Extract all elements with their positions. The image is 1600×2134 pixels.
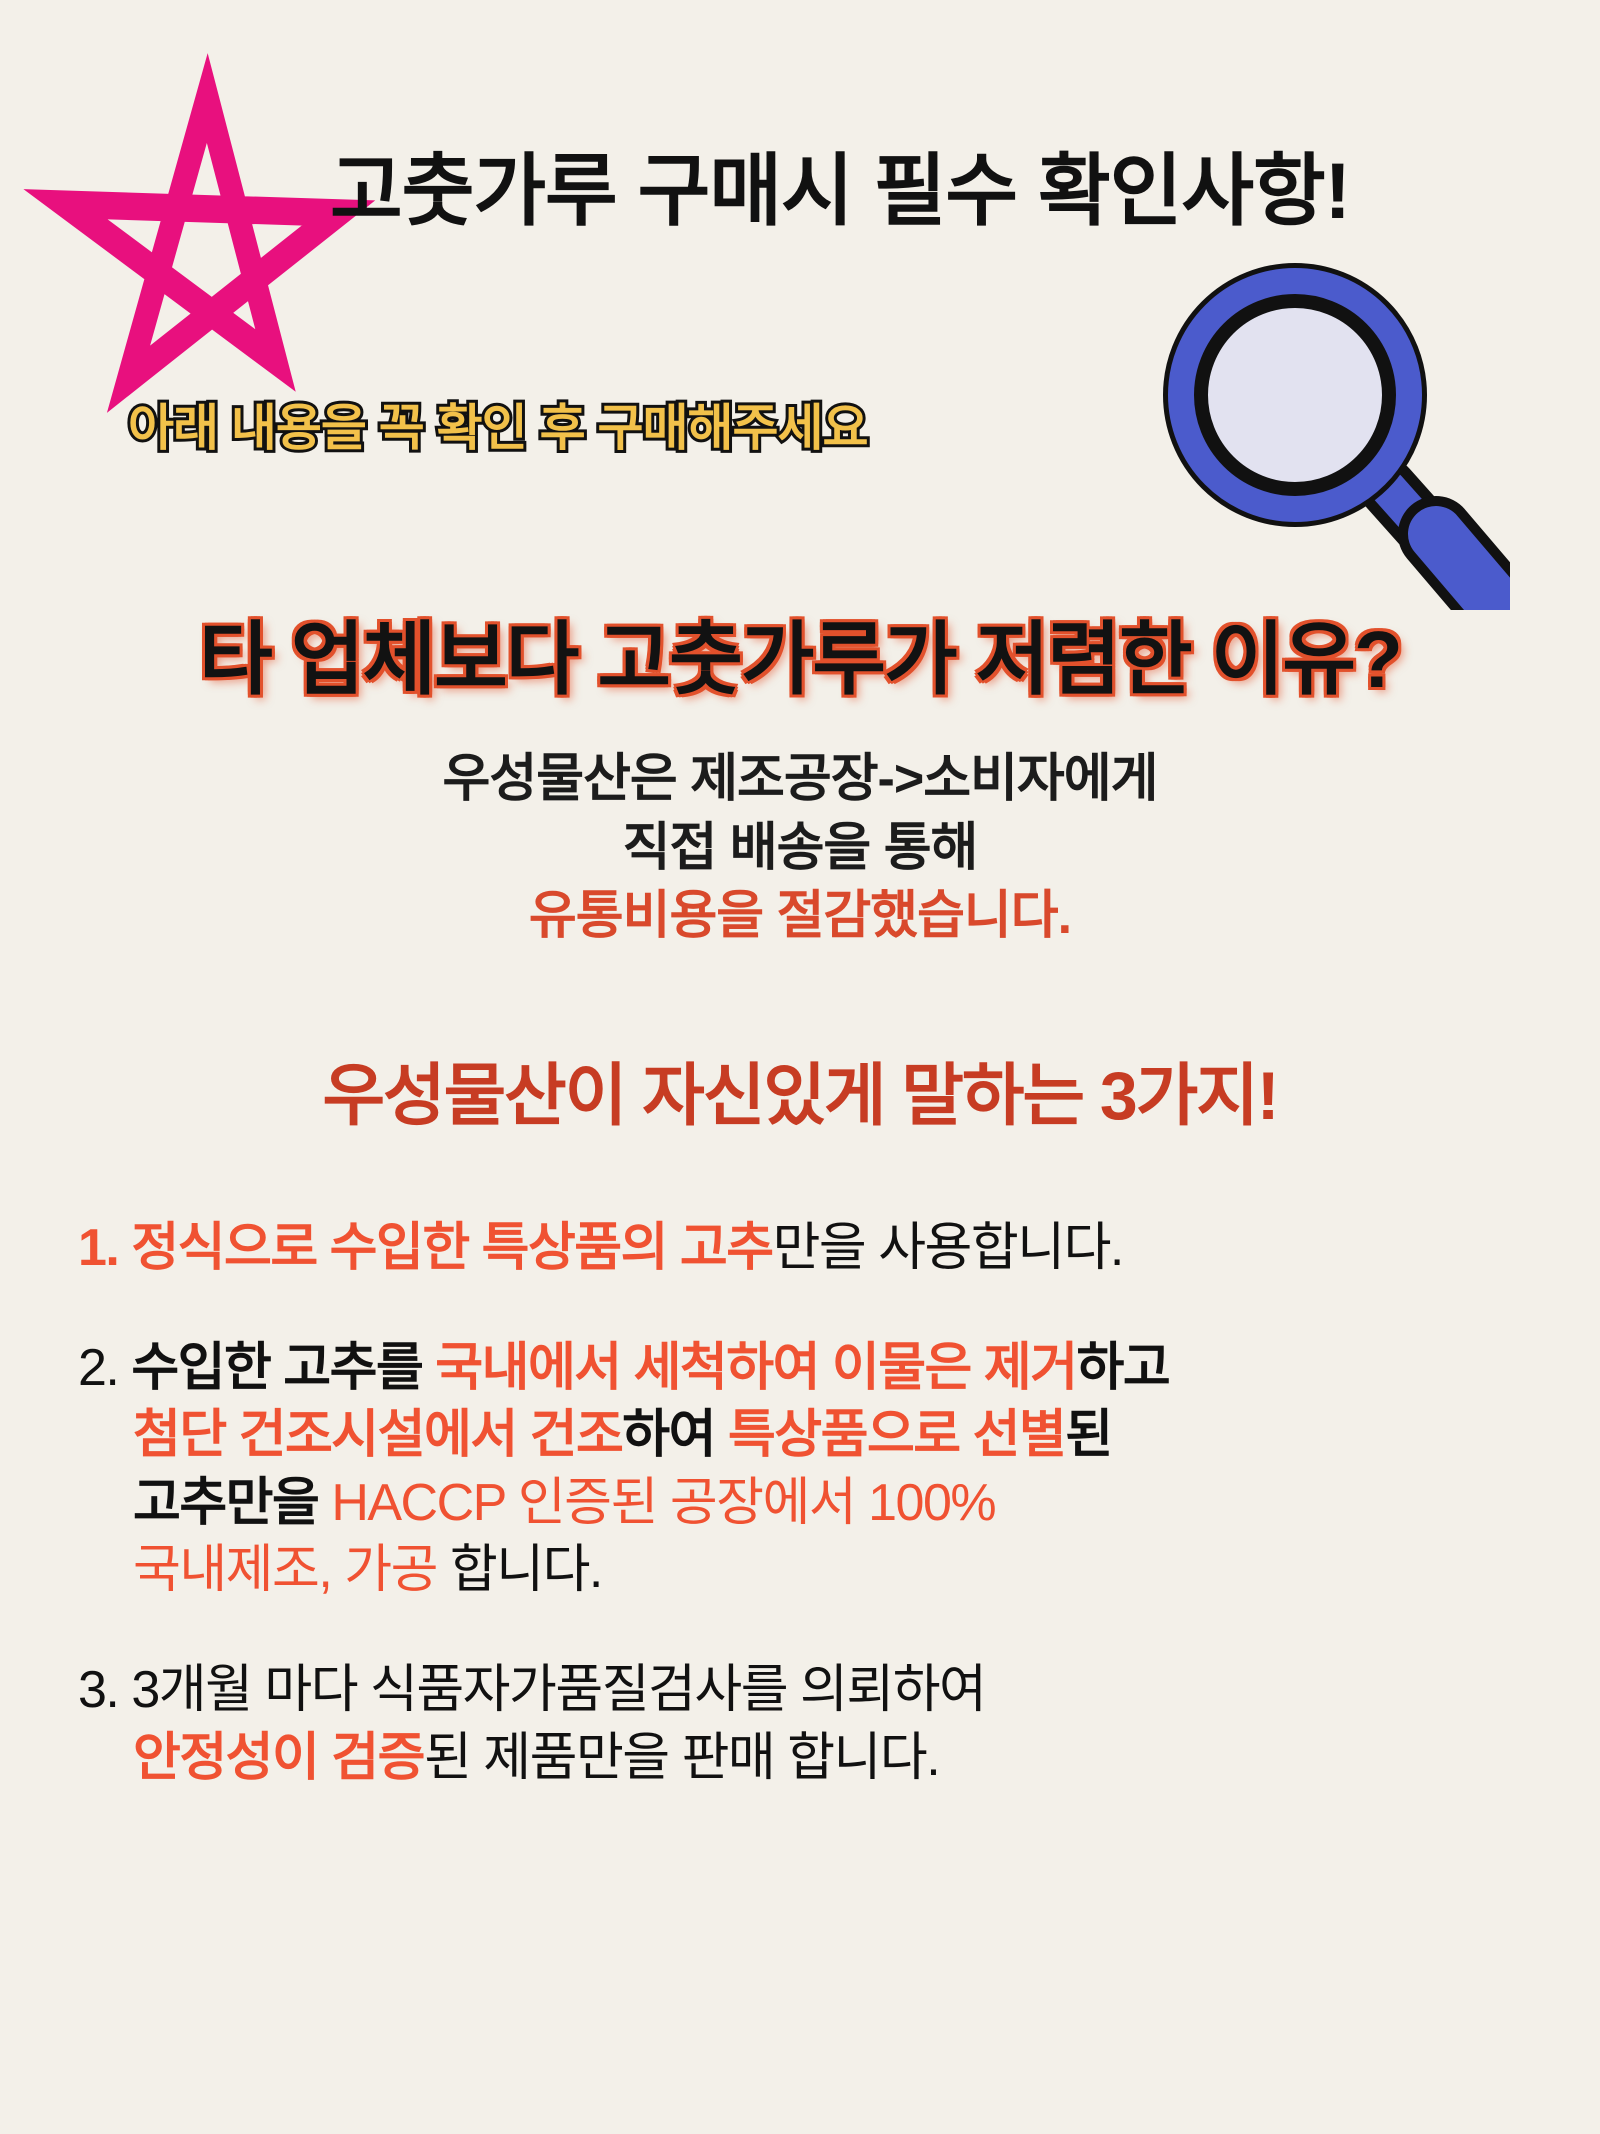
list-item-text: 하고 [1077,1339,1170,1397]
list-item-number: 2. [78,1339,131,1397]
intro-line-1: 우성물산은 제조공장->소비자에게 [0,745,1600,814]
list-item-text: 첨단 건조시설에서 건조 [133,1406,622,1464]
list-item: 2. 수입한 고추를 국내에서 세척하여 이물은 제거하고첨단 건조시설에서 건… [78,1335,1578,1605]
magnifying-glass-icon [1150,250,1510,610]
three-points-heading: 우성물산이 자신있게 말하는 3가지! [0,1040,1600,1139]
list-item-line: 3. 3개월 마다 식품자가품질검사를 의뢰하여 [78,1657,1578,1725]
list-item-line: 첨단 건조시설에서 건조하여 특상품으로 선별된 [78,1402,1578,1470]
list-item: 1. 정식으로 수입한 특상품의 고추만을 사용합니다. [78,1215,1578,1283]
list-item-text: 정식으로 수입한 특상품의 고추 [131,1219,772,1277]
page-title: 고춧가루 구매시 필수 확인사항! [330,148,1580,235]
list-item-line: 고추만을 HACCP 인증된 공장에서 100% [78,1470,1578,1538]
list-item-text: 된 [1065,1406,1111,1464]
list-item-text: 합니다. [437,1541,602,1599]
intro-line-2: 직접 배송을 통해 [0,814,1600,883]
list-item-line: 안정성이 검증된 제품만을 판매 합니다. [78,1725,1578,1793]
list-item-number: 1. [78,1219,131,1277]
list-item-line: 2. 수입한 고추를 국내에서 세척하여 이물은 제거하고 [78,1335,1578,1403]
promo-poster: 고춧가루 구매시 필수 확인사항! 아래 내용을 꼭 확인 후 구매해주세요 타… [0,0,1600,2134]
list-item-text: 만을 사용합니다. [773,1219,1123,1277]
points-list: 1. 정식으로 수입한 특상품의 고추만을 사용합니다.2. 수입한 고추를 국… [78,1215,1578,1844]
list-item-text: 수입한 고추를 [131,1339,435,1397]
list-item-text: 3개월 마다 식품자가품질검사를 의뢰하여 [131,1661,985,1719]
list-item-text: 고추만을 [133,1474,331,1532]
list-item-text: 특상품으로 선별 [728,1406,1065,1464]
list-item-text: 된 제품만을 판매 합니다. [424,1729,939,1787]
list-item: 3. 3개월 마다 식품자가품질검사를 의뢰하여안정성이 검증된 제품만을 판매… [78,1657,1578,1792]
reason-heading: 타 업체보다 고춧가루가 저렴한 이유? [0,595,1600,711]
list-item-line: 1. 정식으로 수입한 특상품의 고추만을 사용합니다. [78,1215,1578,1283]
list-item-number: 3. [78,1661,131,1719]
subtitle: 아래 내용을 꼭 확인 후 구매해주세요 [128,388,867,460]
intro-accent-line: 유통비용을 절감했습니다. [0,882,1600,951]
list-item-text: HACCP 인증된 공장에서 100% [331,1474,995,1532]
list-item-text: 국내제조, 가공 [133,1541,437,1599]
intro-paragraph: 우성물산은 제조공장->소비자에게 직접 배송을 통해 유통비용을 절감했습니다… [0,745,1600,951]
list-item-text: 하여 [622,1406,728,1464]
list-item-text: 안정성이 검증 [133,1729,424,1787]
list-item-line: 국내제조, 가공 합니다. [78,1537,1578,1605]
list-item-text: 국내에서 세척하여 이물은 제거 [435,1339,1076,1397]
